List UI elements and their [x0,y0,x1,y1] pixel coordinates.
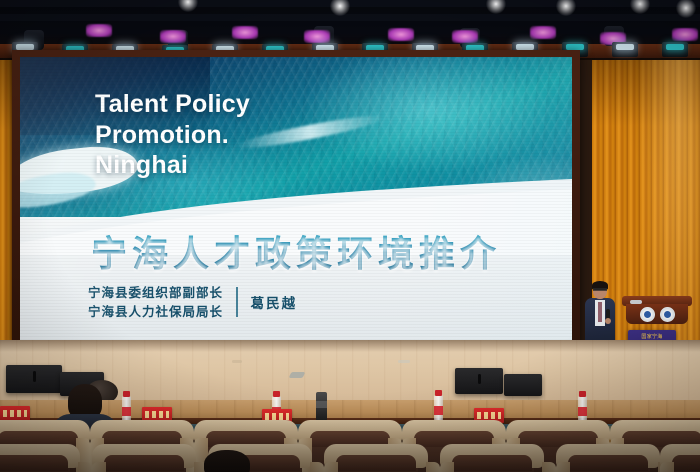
auditorium-seat [92,444,208,472]
name-card-text [477,412,501,419]
seat-headrest-inner [104,455,184,471]
spotlight-icon [178,0,198,12]
floor-marking [232,360,242,363]
red-name-card [0,406,30,421]
wash-light-icon [530,26,556,39]
seat-arm-right [78,462,92,472]
wash-light-icon [86,24,112,37]
wash-light-icon [304,30,330,43]
emblem-inner [664,311,671,318]
floor-shadow [0,340,700,352]
travel-tumbler [316,392,327,422]
screenshot-root: Talent Policy Promotion. Ninghai 宁海人才政策环… [0,0,700,472]
wash-light-icon [388,28,414,41]
auditorium-seat [556,444,672,472]
bottle-label [122,407,131,416]
stage-monitor-speaker [6,365,62,393]
seat-headrest-inner [672,455,700,471]
water-bottle [122,396,131,422]
subtitle-divider [236,287,238,317]
auditorium-seat [0,444,92,472]
spotlight-icon [630,0,650,14]
subtitle-line-1: 宁海县委组织部副部长 [88,283,223,302]
water-bottle [578,396,587,422]
name-card-text [265,413,289,420]
seat-arm-left [556,462,570,472]
monitor-handle-icon [33,371,36,382]
wash-light-icon [672,28,698,41]
floor-marking [398,360,410,363]
light-lens-icon [616,44,634,50]
seat-headrest-inner [568,455,648,471]
seat-arm-left [92,462,106,472]
stage-light-fixture [662,42,688,57]
podium-emblem-icon [660,307,675,322]
subtitle-lines: 宁海县委组织部副部长 宁海县人力社保局局长 [88,283,223,322]
subtitle-line-2: 宁海县人力社保局局长 [88,302,223,321]
name-card-text [3,410,27,417]
seat-arm-left [660,462,674,472]
bottle-label [578,407,587,416]
light-lens-icon [666,44,684,50]
stage-monitor-speaker [455,368,503,394]
english-title-line-1: Talent Policy [95,89,385,120]
stage-light-fixture [612,42,638,57]
audience-member-head-foreground [204,450,250,472]
wash-light-icon [452,30,478,43]
stage-monitor-speaker [504,374,542,396]
truss-bar-mid [0,14,700,21]
auditorium-seat [660,444,700,472]
auditorium-seat [324,444,440,472]
wash-light-icon [232,26,258,39]
seat-arm-left [440,462,454,472]
name-card-text [145,411,169,418]
led-screen: Talent Policy Promotion. Ninghai 宁海人才政策环… [20,57,572,340]
podium-emblem-icon [640,307,655,322]
seat-arm-right [426,462,440,472]
truss-bar-top [0,0,700,7]
bottle-cap [435,390,442,396]
slide-chinese-title: 宁海人才政策环境推介 [20,225,572,277]
seat-arm-left [324,462,338,472]
seat-arm-right [542,462,556,472]
auditorium-seat [440,444,556,472]
presenter-tie [598,302,602,322]
english-title-line-2: Promotion. [95,120,385,151]
seat-arm-right [310,462,324,472]
tumbler-band [316,401,327,408]
bottle-cap [273,391,280,397]
bottle-label [434,406,443,415]
speaker-name: 葛民越 [251,292,298,312]
podium-front-panel [626,304,688,324]
presenter-glasses-icon [593,288,607,291]
slide-subtitle-block: 宁海县委组织部副部长 宁海县人力社保局局长 葛民越 [88,283,297,322]
water-bottle [434,395,443,421]
monitor-handle-icon [478,374,481,384]
seat-headrest-inner [0,455,68,471]
slide-english-title: Talent Policy Promotion. Ninghai [95,89,385,181]
spotlight-icon [486,0,506,14]
podium-sign-line-1: 国家宁海 [628,333,676,340]
bottle-cap [123,391,130,397]
english-title-line-3: Ninghai [95,150,385,181]
presenter-hand [605,318,611,324]
bottle-cap [579,391,586,397]
wash-light-icon [160,30,186,43]
emblem-inner [644,311,651,318]
seat-headrest-inner [336,455,416,471]
seat-headrest-inner [452,455,532,471]
